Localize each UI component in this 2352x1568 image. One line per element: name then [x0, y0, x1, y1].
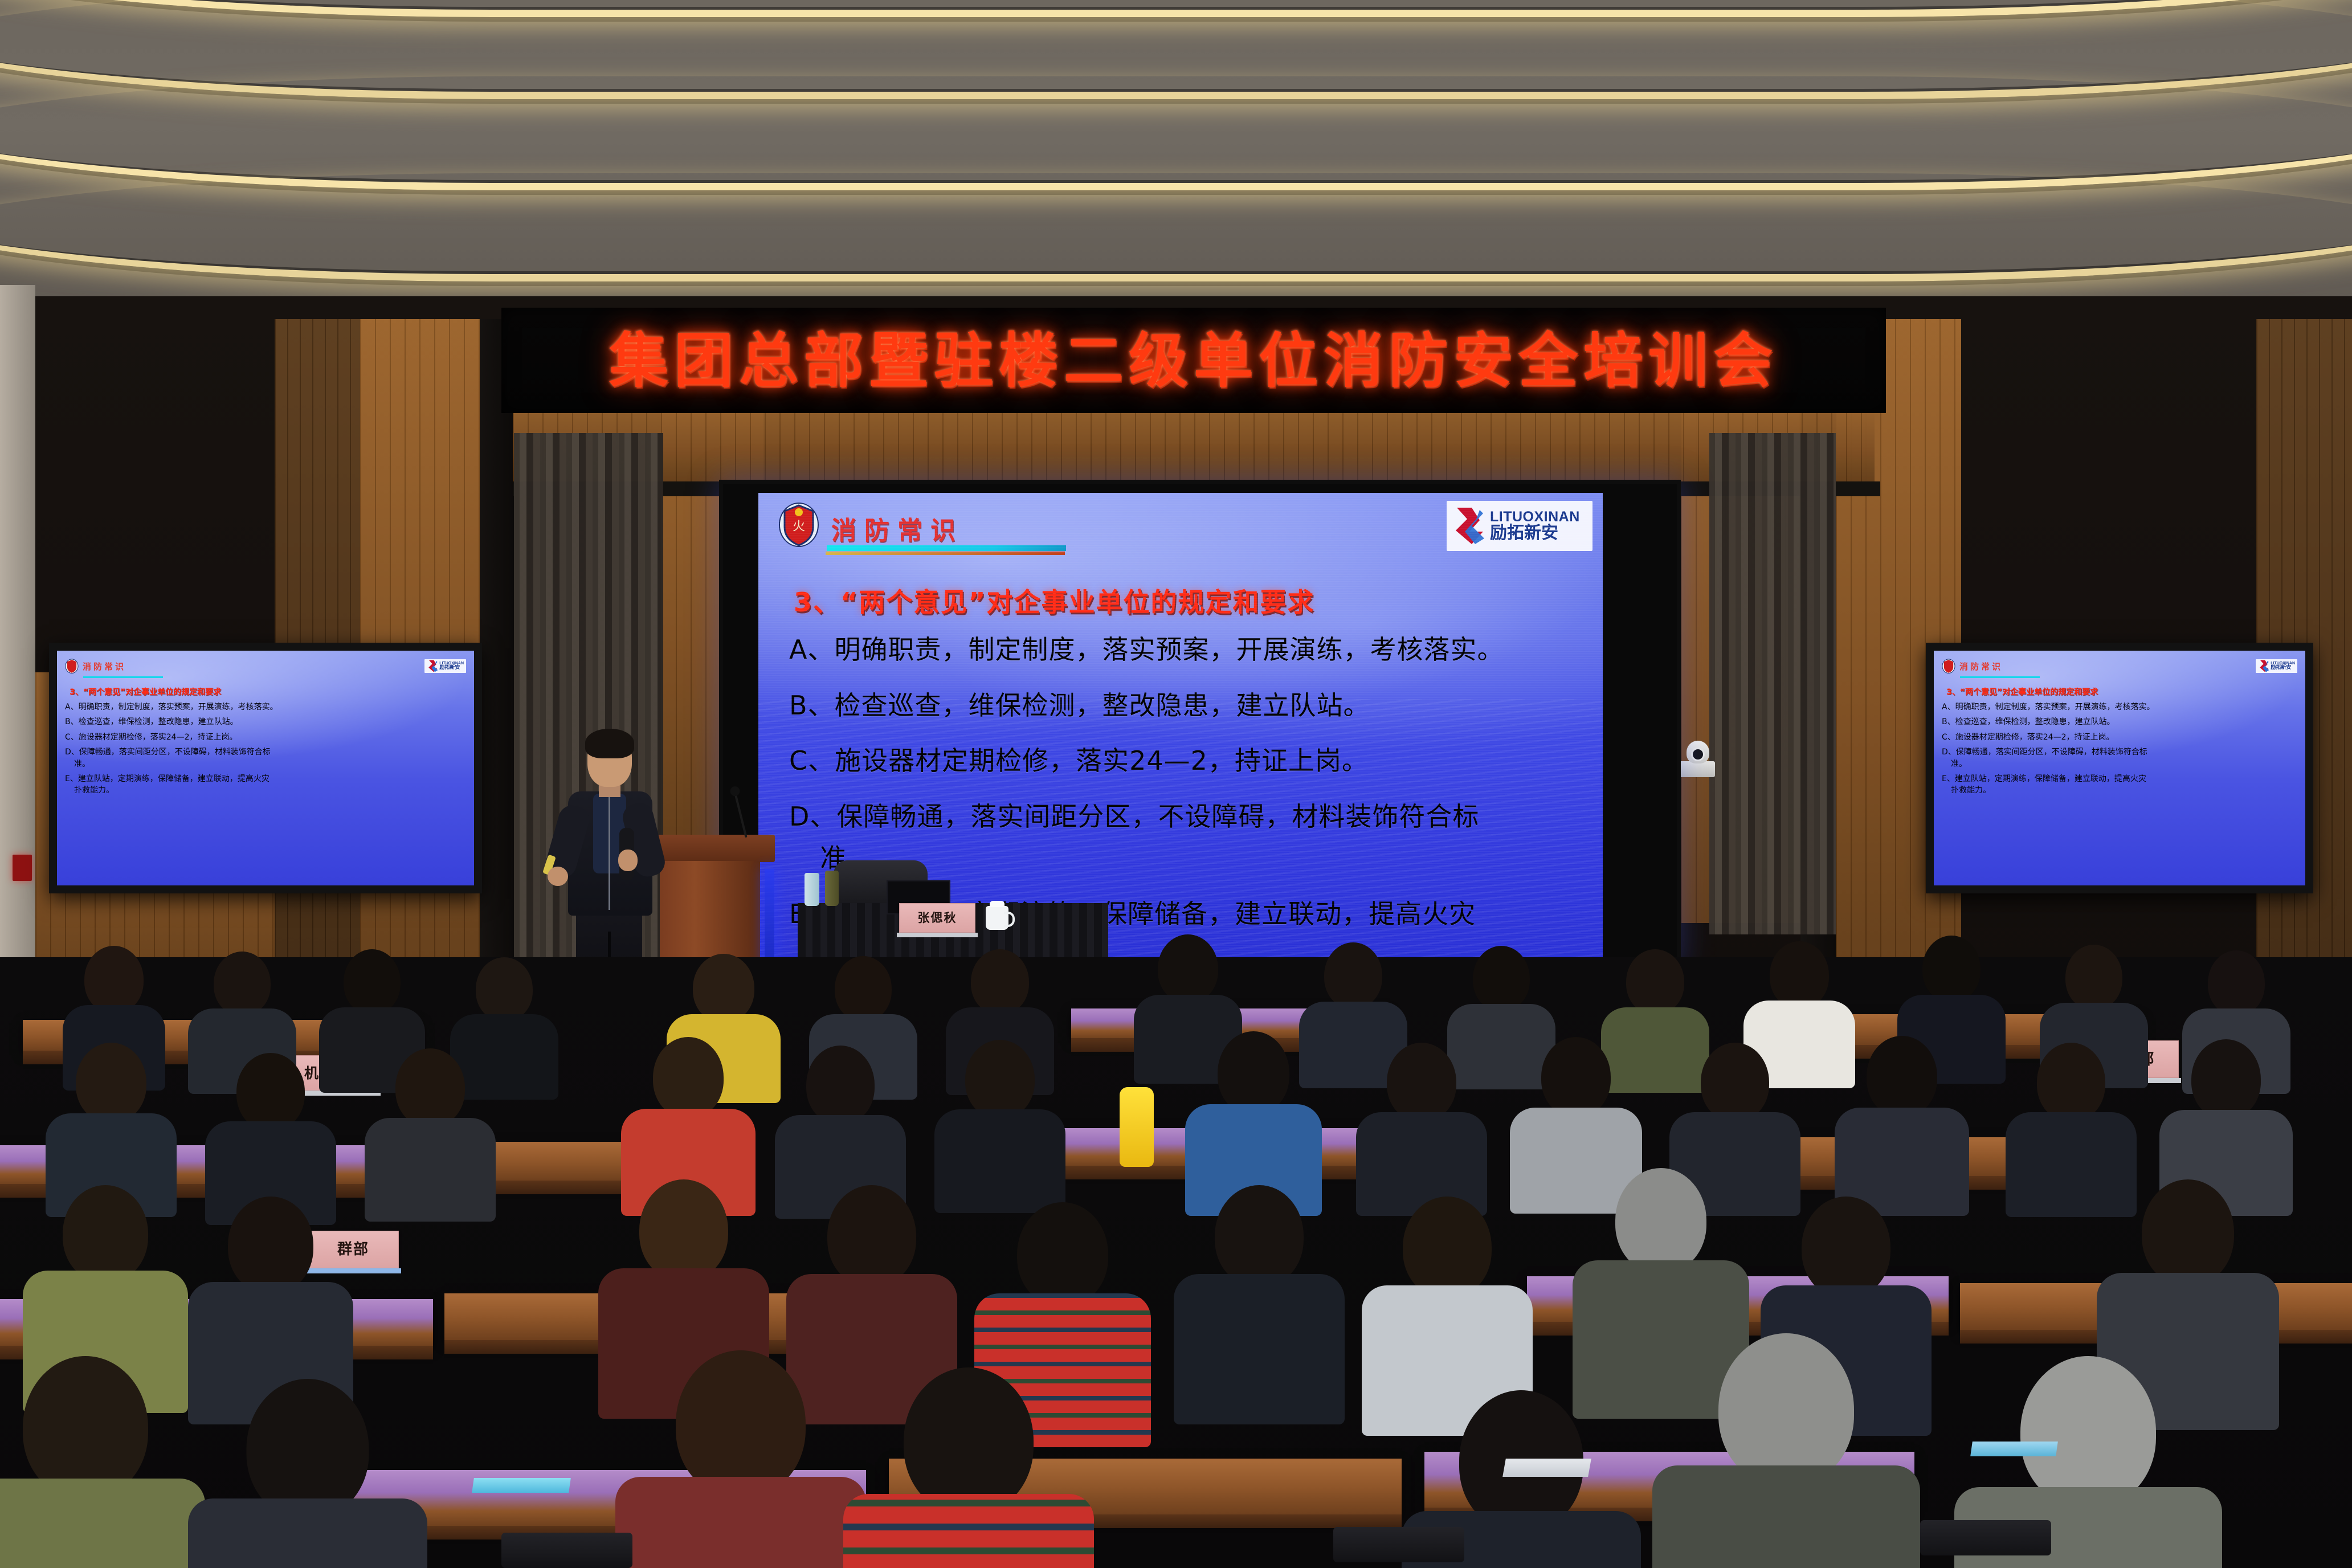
document-icon: [1970, 1442, 2058, 1456]
side-monitor-right: 消防常识 LITUOXINAN 励拓新安 3、“两个意见”对企事业单位的规定和要…: [1926, 643, 2313, 893]
pillar-left: [480, 319, 514, 1003]
brand-name-cn: 励拓新安: [439, 665, 464, 671]
attendee: [1652, 1333, 1920, 1568]
side-monitor-left-title: 3、“两个意见”对企事业单位的规定和要求: [70, 686, 466, 697]
side-monitor-left-header: 消防常识: [83, 660, 126, 672]
bullet-e-line1: E、建立队站，定期演练，保障储备，建立联动，提高火灾: [1942, 774, 2146, 783]
slide-bullet-d-line1: D、保障畅通，落实间距分区，不设障碍，材料装饰符合标: [789, 801, 1479, 832]
event-banner-text: 集团总部暨驻楼二级单位消防安全培训会: [609, 331, 1778, 390]
svg-text:火: 火: [793, 520, 805, 534]
attendee: [1356, 1043, 1487, 1214]
seat-back: [501, 1533, 632, 1568]
slide-title: 3、“两个意见”对企事业单位的规定和要求: [794, 582, 1580, 619]
ceiling: [0, 0, 2352, 319]
side-monitor-right-surface: 消防常识 LITUOXINAN 励拓新安 3、“两个意见”对企事业单位的规定和要…: [1934, 651, 2305, 885]
bullet-d-line2: 准。: [1942, 760, 2297, 769]
document-icon: [472, 1478, 571, 1493]
notebook-icon: [1502, 1459, 1591, 1477]
audience-area: 机科股份 战投部: [0, 957, 2352, 1568]
side-monitor-left-bullet-c: C、施设器材定期检修，落实24—2，持证上岗。: [65, 733, 466, 742]
brand-name-cn: 励拓新安: [2271, 665, 2295, 671]
lituoxinan-logo-icon: [1450, 507, 1485, 545]
name-card-text: 张偲秋: [918, 912, 957, 924]
seat-back: [1920, 1520, 2051, 1555]
attendee: [1835, 1036, 1969, 1214]
side-monitor-right-title: 3、“两个意见”对企事业单位的规定和要求: [1946, 686, 2297, 697]
bullet-e-line2: 扑救能力。: [65, 786, 466, 795]
event-banner: 集团总部暨驻楼二级单位消防安全培训会: [501, 308, 1886, 413]
side-monitor-left-surface: 消防常识 LITUOXINAN 励拓新安 3、“两个意见”对企事业单位的规定和要…: [57, 651, 474, 885]
fire-department-badge-icon: [1942, 659, 1955, 674]
slide-bullet-a: A、明确职责，制定制度，落实预案，开展演练，考核落实。: [789, 635, 1585, 665]
bullet-d-line2: 准。: [65, 760, 466, 769]
ptz-camera-icon: [1680, 741, 1715, 777]
conference-hall-scene: 集团总部暨驻楼二级单位消防安全培训会 火 消防常识: [0, 0, 2352, 1568]
bullet-e-line1: E、建立队站，定期演练，保障储备，建立联动，提高火灾: [65, 774, 269, 783]
brand-logo-block: LITUOXINAN 励拓新安: [424, 659, 466, 673]
lituoxinan-logo-icon: [2258, 660, 2269, 672]
side-monitor-right-bullet-c: C、施设器材定期检修，落实24—2，持证上岗。: [1942, 733, 2297, 742]
slide-bullet-c: C、施设器材定期检修，落实24—2，持证上岗。: [789, 746, 1585, 776]
fire-department-badge-icon: 火: [778, 502, 820, 549]
water-bottle-icon: [805, 873, 819, 906]
bullet-d-line1: D、保障畅通，落实间距分区，不设障碍，材料装饰符合标: [65, 748, 271, 757]
side-monitor-right-bullet-a: A、明确职责，制定制度，落实预案，开展演练，考核落实。: [1942, 703, 2297, 712]
slide-header: 火 消防常识 LITUOXINAN 励拓新安: [758, 493, 1603, 557]
brand-name-en: LITUOXINAN: [1490, 509, 1580, 524]
slide-header-title: 消防常识: [831, 510, 963, 546]
attendee: [1174, 1185, 1345, 1424]
left-wall-column: [0, 285, 35, 1003]
brand-name-cn: 励拓新安: [1490, 524, 1580, 542]
side-monitor-right-bullet-b: B、检查巡查，维保检测，整改隐患，建立队站。: [1942, 718, 2297, 726]
bullet-d-line1: D、保障畅通，落实间距分区，不设障碍，材料装饰符合标: [1942, 748, 2147, 757]
side-monitor-left-bullet-e: E、建立队站，定期演练，保障储备，建立联动，提高火灾 扑救能力。: [65, 775, 466, 795]
yellow-water-bottle-icon: [1120, 1087, 1154, 1167]
bullet-e-line2: 扑救能力。: [1942, 786, 2297, 795]
side-monitor-right-header: 消防常识: [1959, 660, 2003, 672]
lituoxinan-logo-icon: [427, 660, 438, 672]
header-rule-cyan: [827, 545, 1066, 551]
tea-cup-icon: [986, 906, 1008, 930]
name-card-stand: [897, 933, 978, 937]
attendee: [615, 1350, 866, 1568]
header-rule-gold: [826, 552, 1065, 555]
brand-logo-block: LITUOXINAN 励拓新安: [2256, 659, 2297, 673]
side-monitor-right-bullet-e: E、建立队站，定期演练，保障储备，建立联动，提高火灾 扑救能力。: [1942, 775, 2297, 795]
fire-department-badge-icon: [65, 659, 79, 674]
seat-back: [1333, 1527, 1464, 1562]
side-monitor-left-bullet-a: A、明确职责，制定制度，落实预案，开展演练，考核落实。: [65, 703, 466, 712]
fire-alarm-sign-icon: [13, 855, 32, 881]
side-monitor-left-bullet-b: B、检查巡查，维保检测，整改隐患，建立队站。: [65, 718, 466, 726]
brand-logo-block: LITUOXINAN 励拓新安: [1447, 501, 1592, 551]
attendee: [188, 1379, 427, 1568]
slide-bullet-b: B、检查巡查，维保检测，整改隐患，建立队站。: [789, 691, 1585, 721]
stage-curtain-right: [1709, 433, 1836, 934]
attendee: [365, 1048, 496, 1219]
attendee: [0, 1356, 205, 1568]
side-monitor-right-bullet-d: D、保障畅通，落实间距分区，不设障碍，材料装饰符合标 准。: [1942, 748, 2297, 769]
side-monitor-left: 消防常识 LITUOXINAN 励拓新安 3、“两个意见”对企事业单位的规定和要…: [49, 643, 482, 893]
name-card-head-table: 张偲秋: [899, 903, 975, 933]
attendee-plaid-shirt: [843, 1367, 1094, 1568]
side-monitor-left-bullet-d: D、保障畅通，落实间距分区，不设障碍，材料装饰符合标 准。: [65, 748, 466, 769]
tea-flask-icon: [825, 871, 839, 906]
